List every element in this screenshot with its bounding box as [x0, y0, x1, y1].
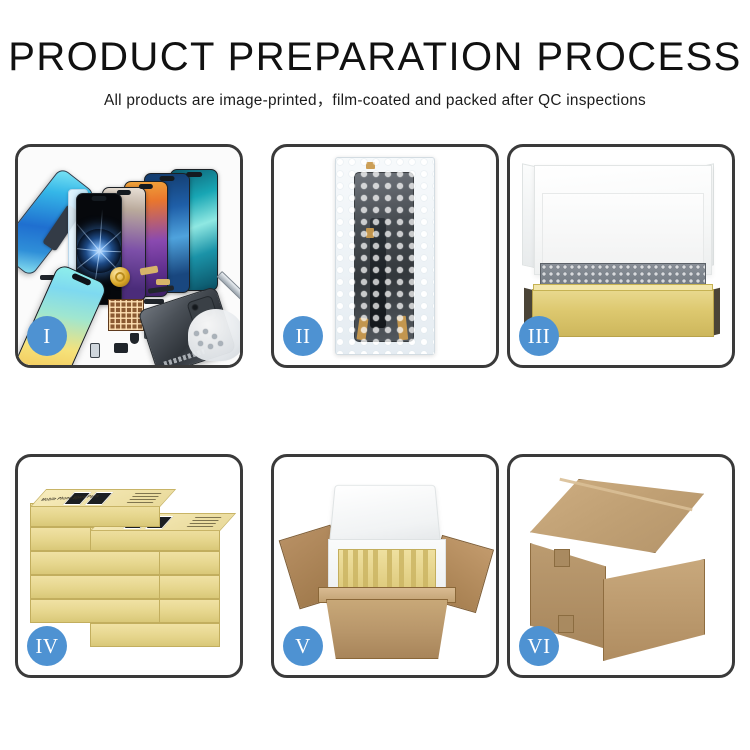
process-step-2[interactable]: II [271, 144, 499, 368]
screws-cluster [194, 329, 224, 351]
box-lid-face: Mobile Phone Spare Parts [30, 489, 176, 507]
bubble-wrap-bag [335, 157, 435, 355]
step-badge-2: II [283, 316, 323, 356]
tape-tab [366, 228, 374, 238]
page-title: PRODUCT PREPARATION PROCESS [0, 34, 750, 80]
carton-body [326, 599, 448, 659]
process-step-3[interactable]: III [507, 144, 735, 368]
labelled-box-front: Mobile Phone Spare Parts [90, 527, 220, 551]
vibration-motor-part [110, 267, 130, 287]
sim-tray-part [90, 343, 100, 358]
foam-box-lid [329, 485, 441, 545]
header: PRODUCT PREPARATION PROCESS All products… [0, 34, 750, 110]
kraft-box-tray [532, 289, 714, 337]
tape-tab [366, 162, 375, 169]
step-badge-1: I [27, 316, 67, 356]
carton-side-face [603, 559, 705, 661]
carton-tape-patch [554, 549, 570, 567]
speaker-part [114, 343, 128, 353]
list-item [30, 575, 160, 599]
gold-contact-part [156, 279, 170, 285]
process-step-5[interactable]: V [271, 454, 499, 678]
product-preparation-infographic: PRODUCT PREPARATION PROCESS All products… [0, 0, 750, 750]
list-item [90, 623, 220, 647]
step-badge-3: III [519, 316, 559, 356]
step-badge-4: IV [27, 626, 67, 666]
foam-liner [542, 193, 704, 265]
process-step-4[interactable]: Mobile Phone Spare Parts Mobile Phone Sp… [15, 454, 243, 678]
process-step-grid: I II [15, 144, 735, 678]
process-step-1[interactable]: I [15, 144, 243, 368]
list-item [30, 551, 160, 575]
page-subtitle: All products are image-printed，film-coat… [0, 88, 750, 110]
connector-part [130, 333, 139, 344]
list-item [30, 599, 160, 623]
carton-tape-patch [558, 615, 574, 633]
step-badge-6: VI [519, 626, 559, 666]
labelled-box-top: Mobile Phone Spare Parts [30, 503, 160, 527]
process-step-6[interactable]: VI [507, 454, 735, 678]
step-badge-5: V [283, 626, 323, 666]
